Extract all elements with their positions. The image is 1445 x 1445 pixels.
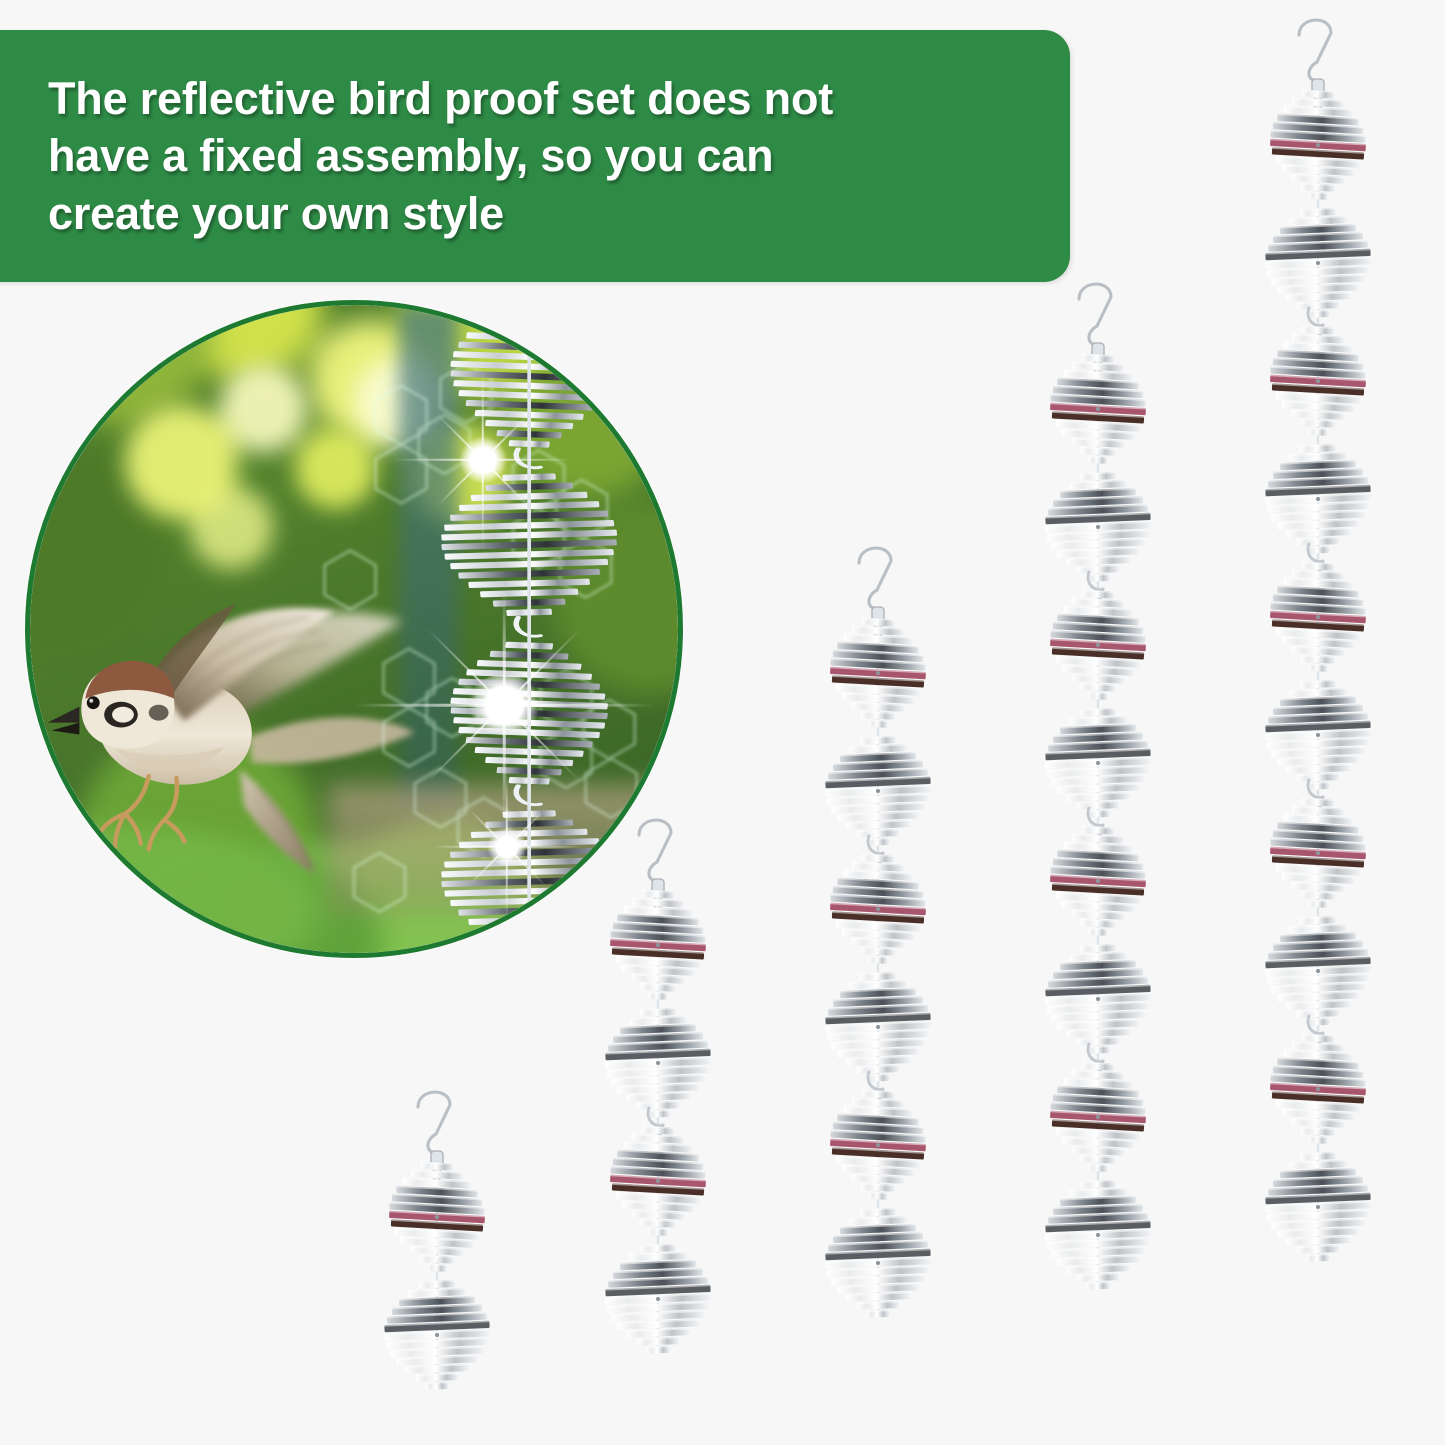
headline-banner: The reflective bird proof set does not h… [0, 30, 1070, 282]
product-spinner-8-bead [1032, 282, 1164, 1334]
photo-inner [30, 305, 678, 953]
product-marketing-image: The reflective bird proof set does not h… [0, 0, 1445, 1445]
lifestyle-photo-circle [25, 300, 683, 958]
headline-text: The reflective bird proof set does not h… [0, 70, 873, 243]
product-spinner-6-bead [812, 546, 944, 1362]
product-spinner-4-bead [592, 818, 724, 1398]
product-spinner-2-bead [371, 1090, 503, 1434]
product-spinner-10-bead [1252, 18, 1384, 1306]
